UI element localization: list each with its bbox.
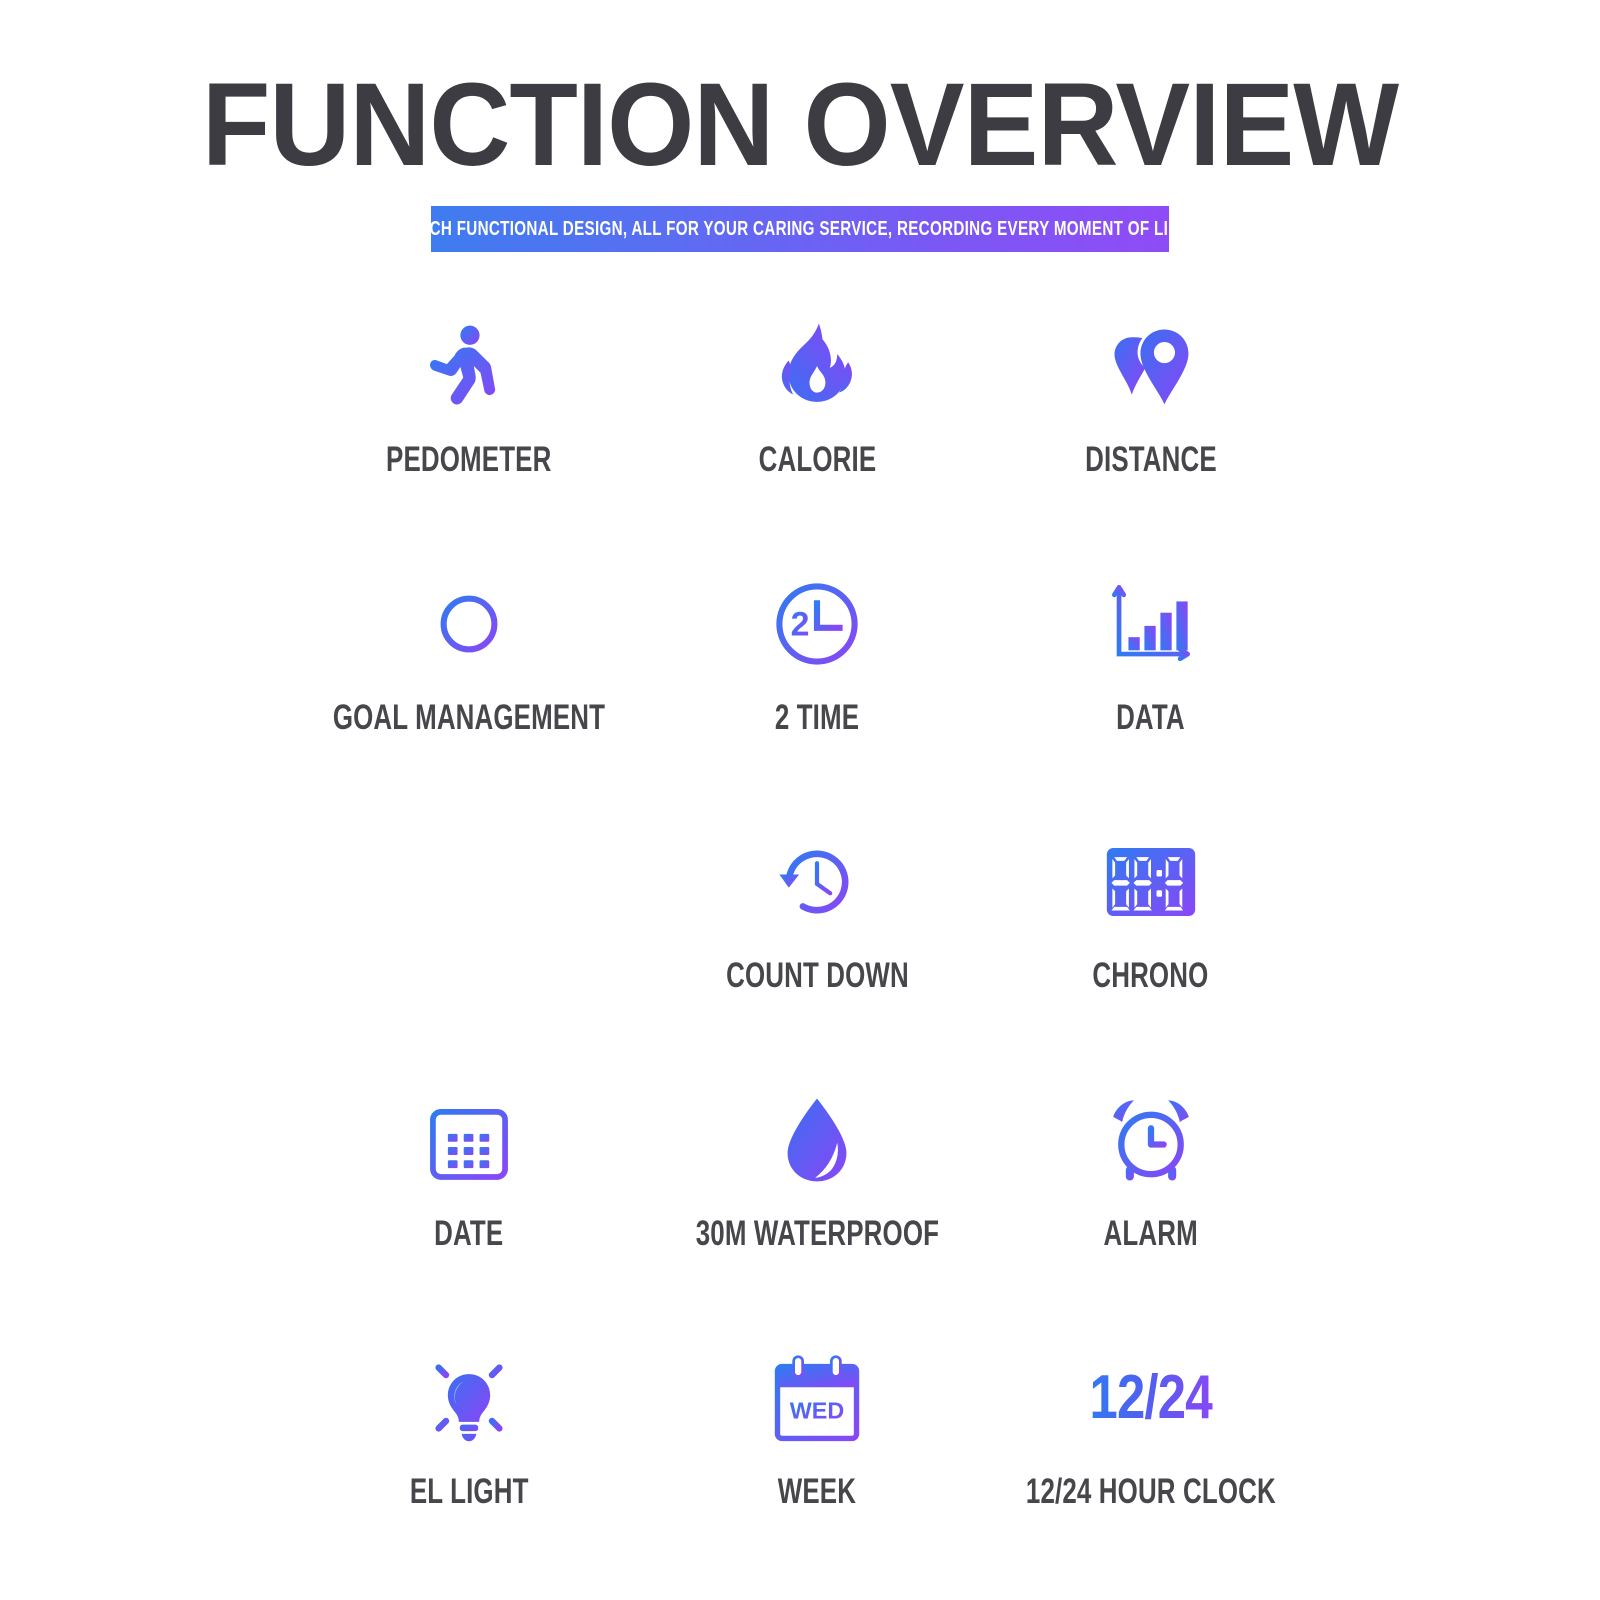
feature-item-data[interactable]: DATA: [982, 562, 1320, 820]
countdown-clock-icon: [765, 830, 869, 934]
feature-label: 12/24 HOUR CLOCK: [1026, 1472, 1276, 1512]
feature-label: DISTANCE: [1085, 440, 1217, 480]
dual-time-clock-icon: 2: [765, 572, 869, 676]
feature-item-week[interactable]: WED WEEK: [653, 1336, 982, 1594]
calendar-icon: [417, 1088, 521, 1192]
feature-item-goal-management[interactable]: GOAL MANAGEMENT: [285, 562, 653, 820]
water-drop-icon: [765, 1088, 869, 1192]
twelve-twentyfour-text: 12/24: [1089, 1367, 1212, 1429]
subtitle-text: EACH FUNCTIONAL DESIGN, ALL FOR YOUR CAR…: [408, 218, 1193, 241]
alarm-clock-icon: [1099, 1088, 1203, 1192]
crosshair-target-icon: [417, 572, 521, 676]
running-person-icon: [417, 314, 521, 418]
feature-item-count-down[interactable]: COUNT DOWN: [653, 820, 982, 1078]
feature-label: GOAL MANAGEMENT: [333, 698, 605, 738]
flame-icon: [765, 314, 869, 418]
bar-chart-icon: [1099, 572, 1203, 676]
light-bulb-icon: [417, 1346, 521, 1450]
feature-label: ALARM: [1103, 1214, 1197, 1254]
feature-label: CALORIE: [759, 440, 877, 480]
page-title: FUNCTION OVERVIEW: [40, 66, 1560, 184]
feature-label: WEEK: [778, 1472, 856, 1512]
feature-label: 30M WATERPROOF: [696, 1214, 939, 1254]
feature-item-waterproof[interactable]: 30M WATERPROOF: [653, 1078, 982, 1336]
map-pin-icon: [1099, 314, 1203, 418]
feature-grid: PEDOMETER CALORIE: [285, 252, 1315, 1594]
feature-label: CHRONO: [1093, 956, 1209, 996]
feature-item-distance[interactable]: DISTANCE: [982, 304, 1320, 562]
subtitle-banner: EACH FUNCTIONAL DESIGN, ALL FOR YOUR CAR…: [431, 206, 1169, 252]
digital-display-icon: [1099, 830, 1203, 934]
feature-label: PEDOMETER: [386, 440, 551, 480]
feature-item-alarm[interactable]: ALARM: [982, 1078, 1320, 1336]
feature-item-date[interactable]: DATE: [285, 1078, 653, 1336]
svg-text:2: 2: [791, 605, 810, 643]
feature-item-2-time[interactable]: 2 2 TIME: [653, 562, 982, 820]
feature-item-el-light[interactable]: EL LIGHT: [285, 1336, 653, 1594]
week-day-text: WED: [790, 1398, 844, 1424]
feature-item-calorie[interactable]: CALORIE: [653, 304, 982, 562]
feature-label: EL LIGHT: [410, 1472, 529, 1512]
function-overview-page: FUNCTION OVERVIEW EACH FUNCTIONAL DESIGN…: [0, 0, 1600, 1600]
feature-label: COUNT DOWN: [726, 956, 909, 996]
twelve-twentyfour-icon: 12/24: [1099, 1346, 1203, 1450]
feature-label: DATA: [1116, 698, 1185, 738]
feature-item-12-24-hour-clock[interactable]: 12/24 12/24 HOUR CLOCK: [982, 1336, 1320, 1594]
feature-item-chrono[interactable]: CHRONO: [982, 820, 1320, 1078]
feature-item-pedometer[interactable]: PEDOMETER: [285, 304, 653, 562]
week-calendar-icon: WED: [765, 1346, 869, 1450]
feature-label: 2 TIME: [775, 698, 859, 738]
page-header: FUNCTION OVERVIEW EACH FUNCTIONAL DESIGN…: [0, 0, 1600, 252]
feature-label: DATE: [434, 1214, 503, 1254]
